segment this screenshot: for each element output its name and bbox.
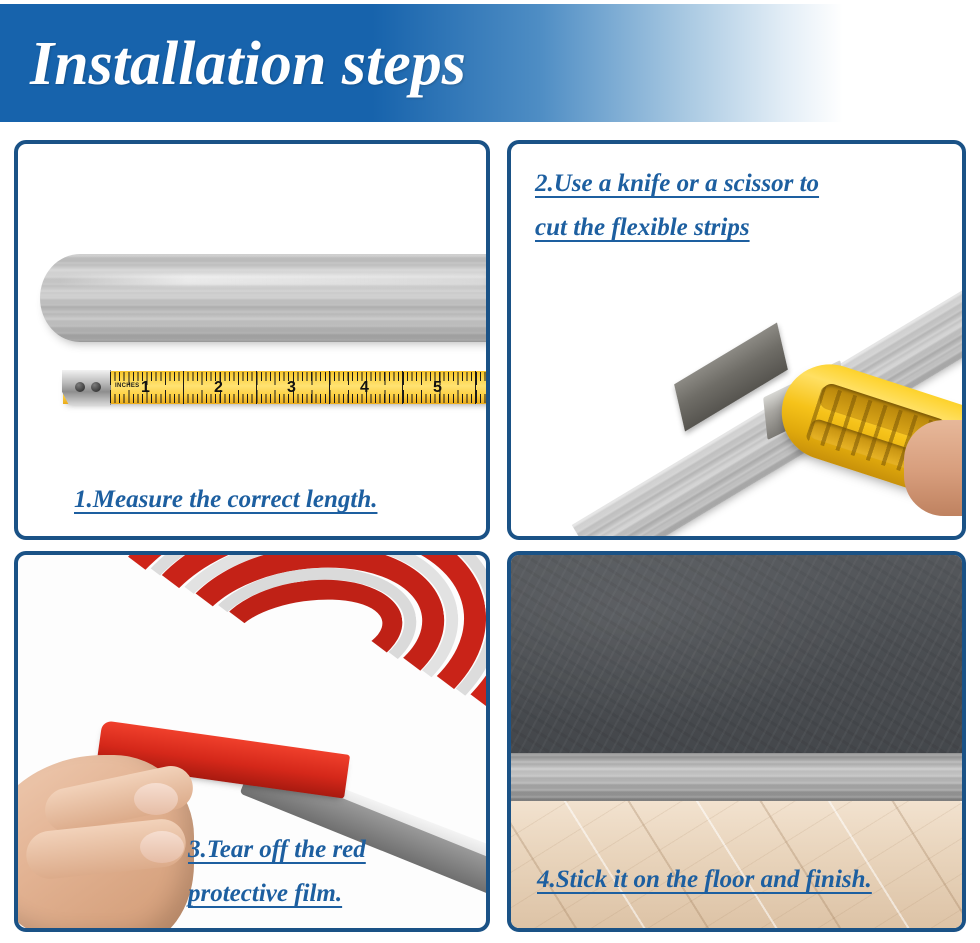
caption-line: protective film. [188, 872, 366, 916]
caption-line: 1.Measure the correct length. [74, 478, 377, 522]
step-1-caption: 1.Measure the correct length. [74, 478, 377, 522]
step-3-caption: 3.Tear off the red protective film. [188, 828, 366, 916]
tape-inch-divider [329, 371, 330, 404]
fingernail [134, 783, 178, 815]
step-4-caption: 4.Stick it on the floor and finish. [537, 858, 872, 902]
tape-inch-divider [256, 371, 257, 404]
tape-measure-image: INCHES 1 2 3 4 5 6 [63, 371, 490, 404]
tape-number: 6 [488, 379, 490, 397]
step-1-illustration: INCHES 1 2 3 4 5 6 1.Measure the correct… [18, 144, 486, 536]
page-title: Installation steps [30, 20, 466, 108]
tape-rivet-icon [91, 382, 101, 392]
caption-line: 4.Stick it on the floor and finish. [537, 858, 872, 902]
step-panel-3: 3.Tear off the red protective film. [14, 551, 490, 932]
hand-image [14, 755, 194, 932]
caption-line: 3.Tear off the red [188, 828, 366, 872]
installed-transition-strip [511, 753, 962, 803]
tape-number: 3 [287, 379, 296, 397]
tape-rivet-icon [75, 382, 85, 392]
tape-number: 1 [141, 379, 150, 397]
tape-number: 4 [360, 379, 369, 397]
step-2-caption: 2.Use a knife or a scissor to cut the fl… [535, 162, 819, 250]
steps-grid: INCHES 1 2 3 4 5 6 1.Measure the correct… [14, 140, 966, 932]
tape-unit-label: INCHES [115, 383, 139, 389]
step-4-illustration: 4.Stick it on the floor and finish. [511, 555, 962, 928]
tape-inch-divider [402, 371, 403, 404]
tape-inch-divider [475, 371, 476, 404]
caption-line: cut the flexible strips [535, 206, 819, 250]
hand-thumb-image [904, 420, 966, 516]
step-2-illustration: 2.Use a knife or a scissor to cut the fl… [511, 144, 962, 536]
tape-number: 5 [433, 379, 442, 397]
header-banner: Installation steps [0, 4, 980, 122]
strip-highlight [58, 274, 488, 286]
caption-line: 2.Use a knife or a scissor to [535, 162, 819, 206]
transition-strip-image [40, 254, 490, 342]
step-3-illustration: 3.Tear off the red protective film. [18, 555, 486, 928]
tape-number: 2 [214, 379, 223, 397]
step-panel-1: INCHES 1 2 3 4 5 6 1.Measure the correct… [14, 140, 490, 540]
fingernail [140, 831, 184, 863]
step-panel-2: 2.Use a knife or a scissor to cut the fl… [507, 140, 966, 540]
tape-hook-icon [62, 370, 111, 405]
tape-inch-divider [183, 371, 184, 404]
wall-surface-image [511, 555, 962, 756]
step-panel-4: 4.Stick it on the floor and finish. [507, 551, 966, 932]
